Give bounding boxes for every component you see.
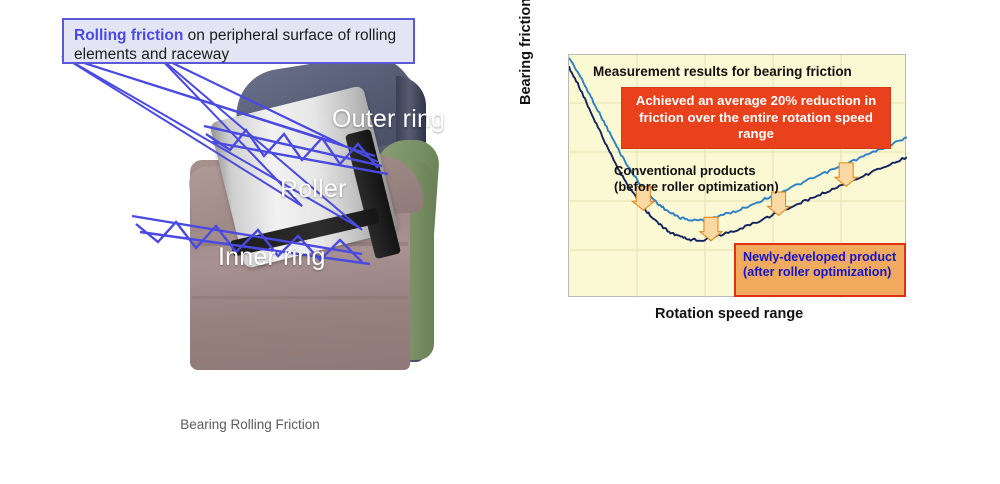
rolling-friction-callout: Rolling friction on peripheral surface o…	[62, 18, 415, 64]
friction-chart-panel: Bearing friction Rotation speed range Me…	[500, 0, 1000, 484]
callout-highlight-text: Rolling friction	[74, 27, 183, 44]
caption-left: Bearing Rolling Friction	[0, 409, 500, 441]
bearing-illustration-panel: Outer ring Roller Inner ring Rolling fri…	[0, 0, 500, 484]
reduction-callout-text: Achieved an average 20% reduction in fri…	[622, 93, 890, 143]
chart-title: Measurement results for bearing friction	[593, 64, 852, 79]
conventional-products-label: Conventional products (before roller opt…	[614, 163, 779, 194]
label-outer-ring: Outer ring	[332, 105, 445, 134]
chart-plot-area: Measurement results for bearing friction…	[568, 54, 906, 297]
x-axis-label: Rotation speed range	[655, 306, 803, 322]
newly-developed-product-box: Newly-developed product (after roller op…	[734, 243, 906, 297]
label-roller: Roller	[280, 175, 347, 204]
friction-annotation-lines	[40, 10, 460, 370]
newly-developed-product-text: Newly-developed product (after roller op…	[743, 250, 896, 279]
label-inner-ring: Inner ring	[218, 243, 326, 272]
y-axis-label: Bearing friction	[518, 0, 534, 105]
bearing-diagram: Outer ring Roller Inner ring	[40, 10, 460, 370]
reduction-callout-box: Achieved an average 20% reduction in fri…	[621, 87, 891, 149]
